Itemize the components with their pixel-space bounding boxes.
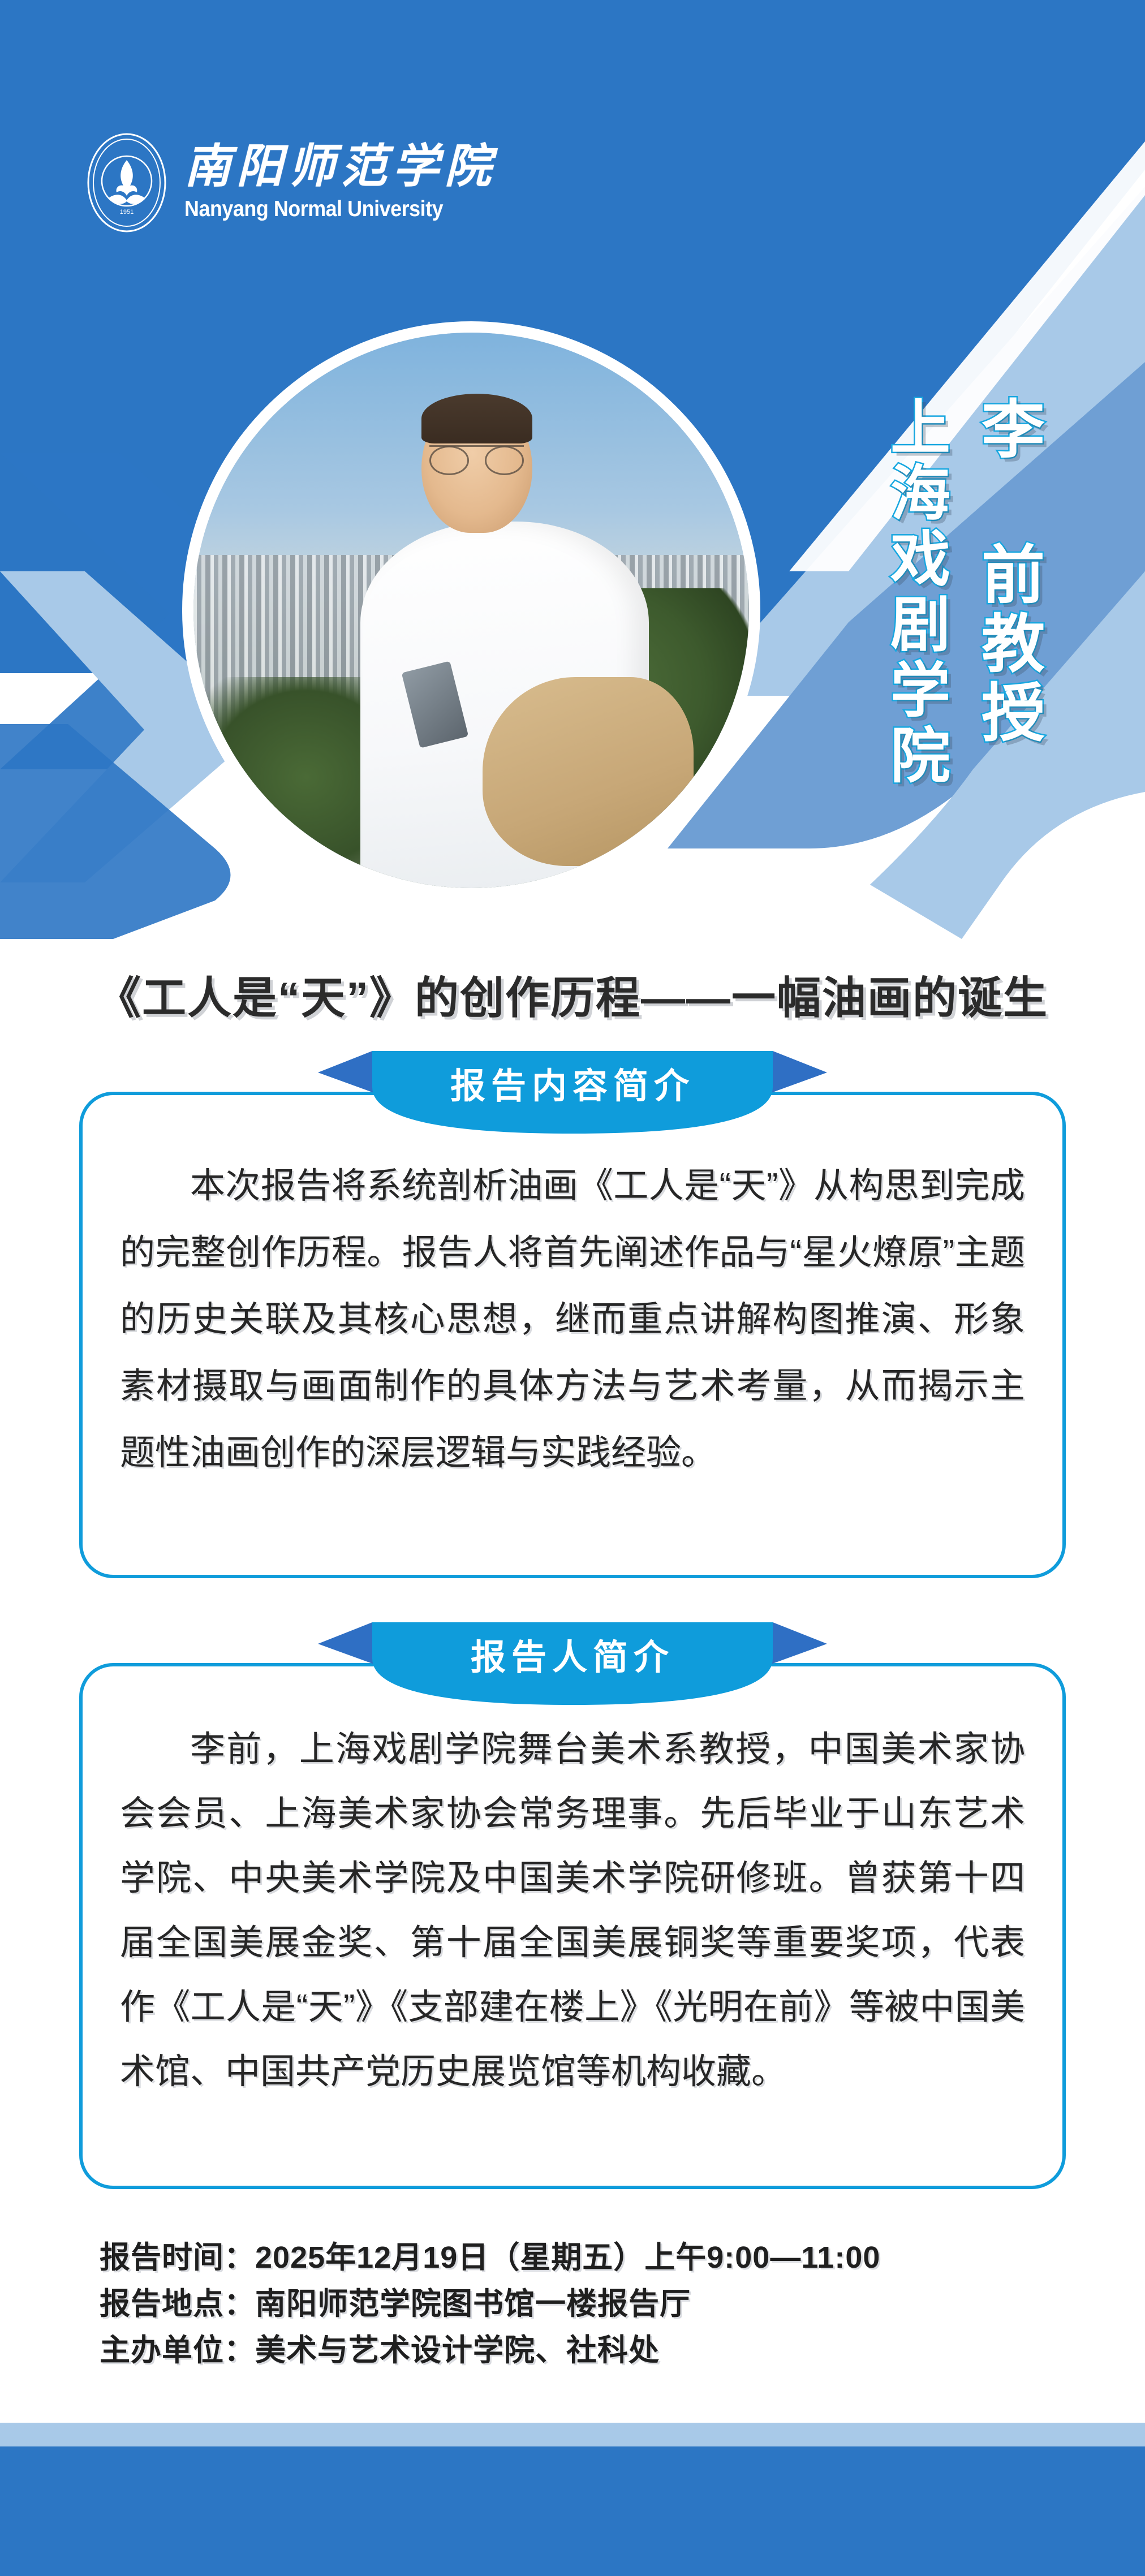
lecture-title: 《工人是“天”》的创作历程——一幅油画的诞生	[0, 963, 1145, 1026]
event-info: 报告时间：2025年12月19日（星期五）上午9:00—11:00 报告地点：南…	[100, 2234, 880, 2373]
section-speaker-bio: 报告人简介 李前，上海戏剧学院舞台美术系教授，中国美术家协会会员、上海美术家协会…	[79, 1663, 1066, 2189]
speaker-affiliation-vertical: 上海戏剧学院	[871, 396, 958, 790]
speaker-name-vertical: 李 前教授	[962, 396, 1053, 748]
portrait-hair	[421, 394, 532, 443]
university-seal-icon: 1951	[84, 129, 170, 236]
event-host: 主办单位：美术与艺术设计学院、社科处	[100, 2327, 880, 2373]
event-time: 报告时间：2025年12月19日（星期五）上午9:00—11:00	[100, 2234, 880, 2281]
logo-name-cn: 南阳师范学院	[184, 144, 497, 190]
speaker-bio-body: 李前，上海戏剧学院舞台美术系教授，中国美术家协会会员、上海美术家协会常务理事。先…	[120, 1717, 1025, 2104]
content-intro-banner-label: 报告内容简介	[318, 1051, 827, 1122]
hero-banner: 1951 南阳师范学院 Nanyang Normal University 李 …	[0, 0, 1145, 939]
footer-accent-strip	[0, 2423, 1145, 2446]
content-intro-body: 本次报告将系统剖析油画《工人是“天”》从构思到完成的完整创作历程。报告人将首先阐…	[120, 1153, 1025, 1487]
speaker-bio-banner: 报告人简介	[318, 1622, 827, 1707]
portrait-coat	[483, 677, 694, 866]
section-content-intro: 报告内容简介 本次报告将系统剖析油画《工人是“天”》从构思到完成的完整创作历程。…	[79, 1092, 1066, 1578]
portrait-glasses	[429, 445, 524, 464]
footer-block	[0, 2446, 1145, 2576]
svg-text:1951: 1951	[120, 209, 134, 216]
logo-name-en: Nanyang Normal University	[184, 197, 443, 222]
event-place: 报告地点：南阳师范学院图书馆一楼报告厅	[100, 2281, 880, 2327]
speaker-portrait	[182, 321, 760, 899]
speaker-bio-banner-label: 报告人简介	[318, 1622, 827, 1694]
university-logo: 1951 南阳师范学院 Nanyang Normal University	[84, 129, 497, 236]
content-intro-banner: 报告内容简介	[318, 1051, 827, 1136]
